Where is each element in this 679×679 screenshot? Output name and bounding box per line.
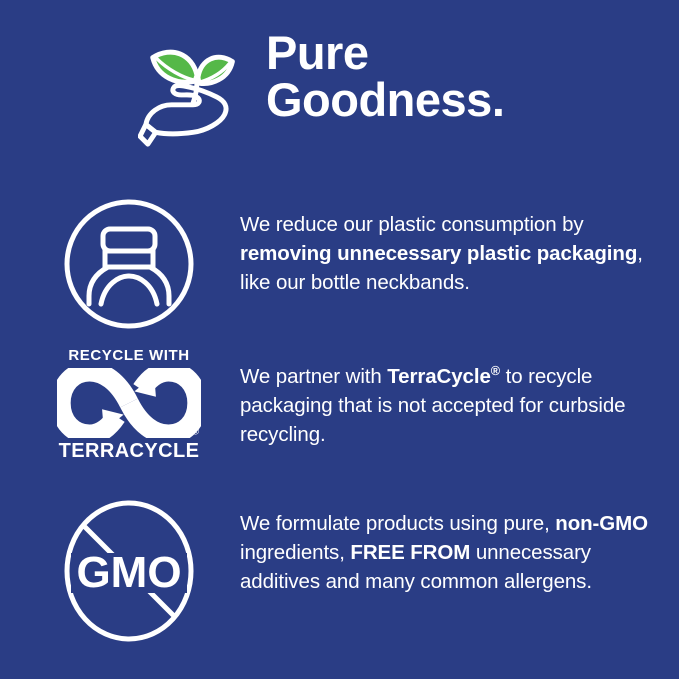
- text-segment-bold: TerraCycle: [387, 365, 490, 388]
- feature-row-terracycle: RECYCLE WITH ® TERRACYC: [0, 348, 679, 461]
- text-segment-bold: non-GMO: [555, 512, 648, 535]
- registered-mark: ®: [192, 426, 200, 437]
- feature-text-terracycle: We partner with TerraCycle® to recycle p…: [240, 348, 679, 449]
- feature-text-gmo: We formulate products using pure, non-GM…: [240, 497, 679, 596]
- plastic-bottle-in-circle-icon: [56, 196, 202, 332]
- feature-text-plastic: We reduce our plastic consumption by rem…: [240, 196, 679, 297]
- text-segment: ingredients,: [240, 541, 350, 564]
- infinity-recycle-arrows-icon: ®: [57, 368, 201, 438]
- page-title-line-1: Pure: [266, 30, 504, 77]
- header: Pure Goodness.: [138, 28, 638, 158]
- terracycle-bottom-label: TERRACYCLE: [59, 441, 200, 461]
- terracycle-top-label: RECYCLE WITH: [68, 348, 189, 363]
- feature-row-plastic: We reduce our plastic consumption by rem…: [0, 196, 679, 332]
- terracycle-badge: RECYCLE WITH ® TERRACYC: [56, 348, 202, 461]
- no-gmo-icon: GMO: [56, 497, 202, 645]
- feature-row-gmo: GMO We formulate products using pure, no…: [0, 497, 679, 645]
- text-segment: We partner with: [240, 365, 387, 388]
- terracycle-logo-icon: RECYCLE WITH ® TERRACYC: [56, 348, 202, 461]
- hand-holding-sprout-icon: [138, 34, 256, 152]
- text-segment-bold: removing unnecessary plastic packaging: [240, 242, 637, 265]
- text-segment: We reduce our plastic consumption by: [240, 213, 584, 236]
- page-title-line-2: Goodness.: [266, 77, 504, 124]
- registered-mark-inline: ®: [491, 363, 500, 378]
- text-segment: We formulate products using pure,: [240, 512, 555, 535]
- pure-goodness-infographic: Pure Goodness. We reduce our plastic con…: [0, 0, 679, 679]
- page-title: Pure Goodness.: [266, 28, 504, 123]
- text-segment-bold: FREE FROM: [350, 541, 470, 564]
- gmo-label: GMO: [76, 548, 181, 597]
